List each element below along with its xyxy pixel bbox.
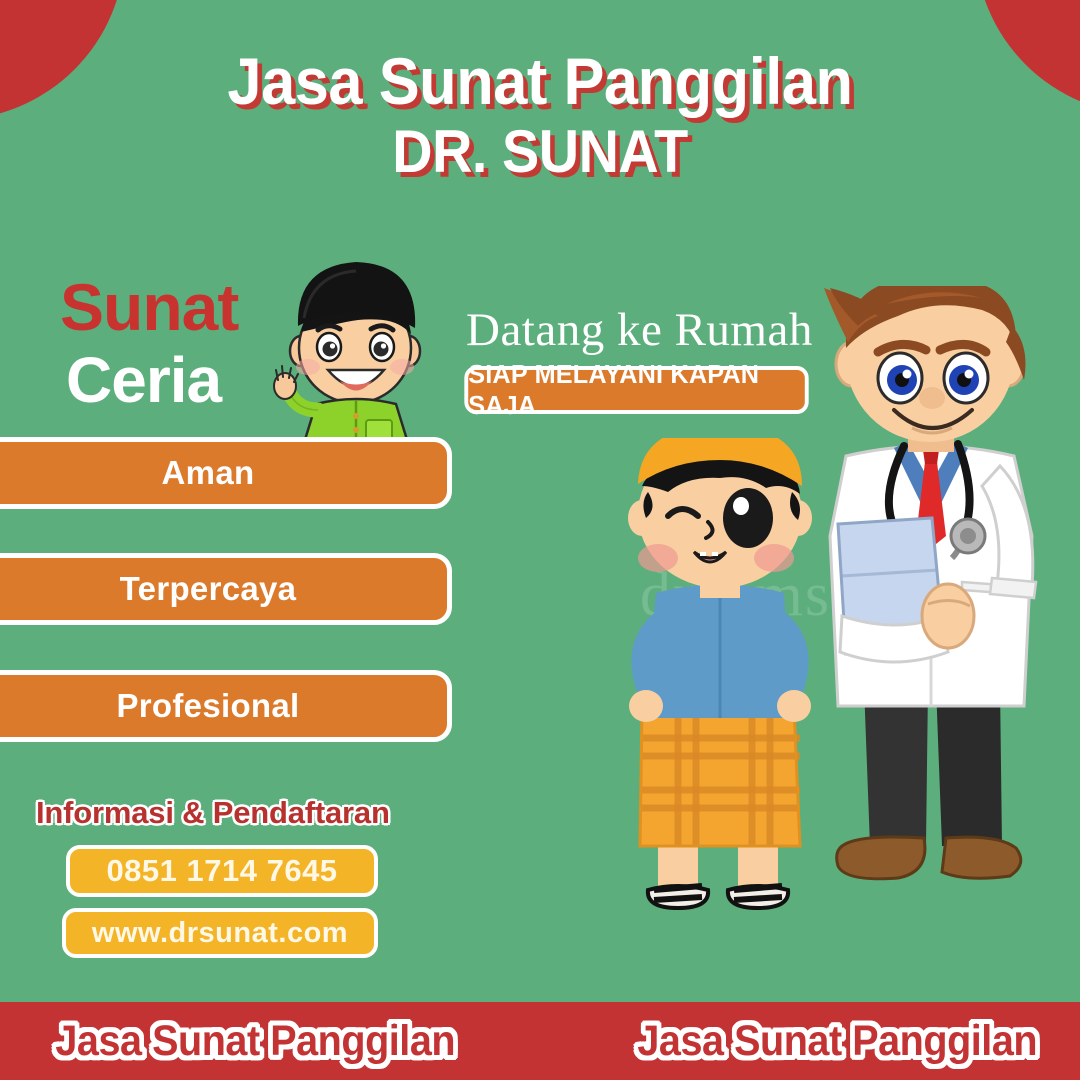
page-title: Jasa Sunat Panggilan DR. SUNAT <box>0 48 1080 183</box>
promo-badge-label: SIAP MELAYANI KAPAN SAJA <box>468 359 805 421</box>
website-url: www.drsunat.com <box>92 917 348 950</box>
feature-bar-profesional[interactable]: Profesional <box>0 670 452 742</box>
feature-label: Profesional <box>116 687 299 725</box>
promo-badge[interactable]: SIAP MELAYANI KAPAN SAJA <box>464 366 808 414</box>
phone-number: 0851 1714 7645 <box>106 853 337 889</box>
poster-canvas: Jasa Sunat Panggilan DR. SUNAT Sunat Cer… <box>0 0 1080 1080</box>
footer-text-left: Jasa Sunat Panggilan <box>55 1017 455 1066</box>
contact-heading: Informasi & Pendaftaran <box>36 795 390 831</box>
title-line-1: Jasa Sunat Panggilan <box>38 48 1042 115</box>
feature-bar-aman[interactable]: Aman <box>0 437 452 509</box>
website-pill[interactable]: www.drsunat.com <box>62 908 378 958</box>
promo-headline: Datang ke Rumah <box>466 303 813 357</box>
title-line-2: DR. SUNAT <box>38 121 1042 182</box>
corner-circle-top-right <box>975 0 1080 115</box>
feature-label: Aman <box>162 454 255 492</box>
corner-circle-top-left <box>0 0 125 120</box>
mascot-boy-illustration <box>268 248 448 443</box>
doctor-illustration <box>786 286 1076 936</box>
phone-number-pill[interactable]: 0851 1714 7645 <box>66 845 378 897</box>
feature-bar-terpercaya[interactable]: Terpercaya <box>0 553 452 625</box>
footer-bar: Jasa Sunat Panggilan Jasa Sunat Panggila… <box>0 1002 1080 1080</box>
feature-label: Terpercaya <box>120 570 297 608</box>
footer-text-right: Jasa Sunat Panggilan <box>637 1017 1037 1066</box>
